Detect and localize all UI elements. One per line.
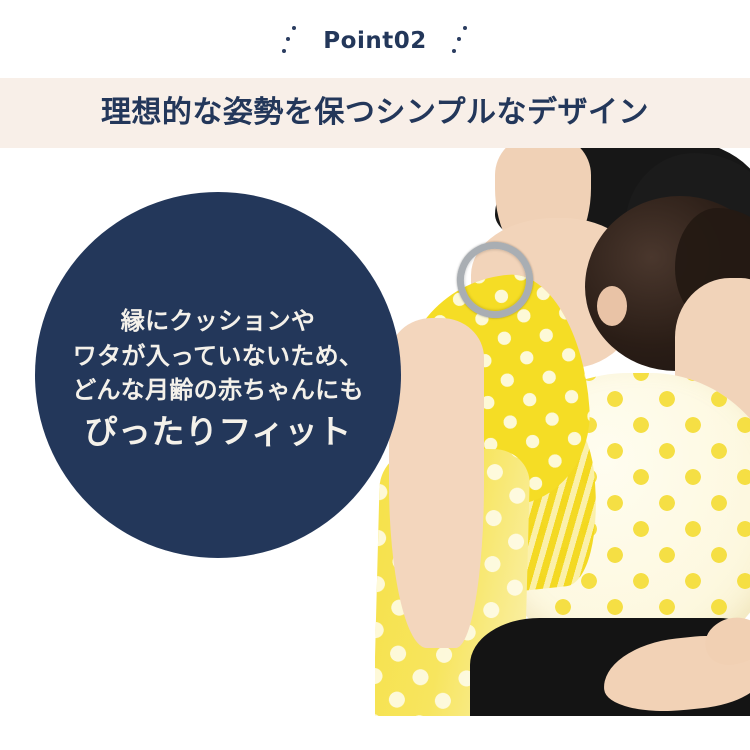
page-root: Point02 理想的な姿勢を保つシンプルなデザイン 縁にクッションや ワタが入… xyxy=(0,0,750,750)
point-badge: Point02 xyxy=(0,0,750,78)
callout-circle: 縁にクッションや ワタが入っていないため、 どんな月齢の赤ちゃんにも ぴったりフ… xyxy=(35,192,401,558)
callout-line-3: どんな月齢の赤ちゃんにも xyxy=(72,373,364,407)
section-title: 理想的な姿勢を保つシンプルなデザイン xyxy=(101,98,649,128)
product-photo xyxy=(375,148,750,718)
photo-bottom-edge xyxy=(375,716,750,718)
callout-emphasis: ぴったりフィット xyxy=(84,411,351,454)
callout-line-2: ワタが入っていないため、 xyxy=(73,339,363,373)
photo-arm-left xyxy=(389,318,484,648)
three-dots-icon-left xyxy=(281,24,301,58)
photo-baby-ear xyxy=(597,286,627,326)
section-title-banner: 理想的な姿勢を保つシンプルなデザイン xyxy=(0,78,750,148)
three-dots-icon-right xyxy=(449,24,469,58)
point-label: Point02 xyxy=(323,26,426,53)
callout-line-1: 縁にクッションや xyxy=(121,304,315,338)
